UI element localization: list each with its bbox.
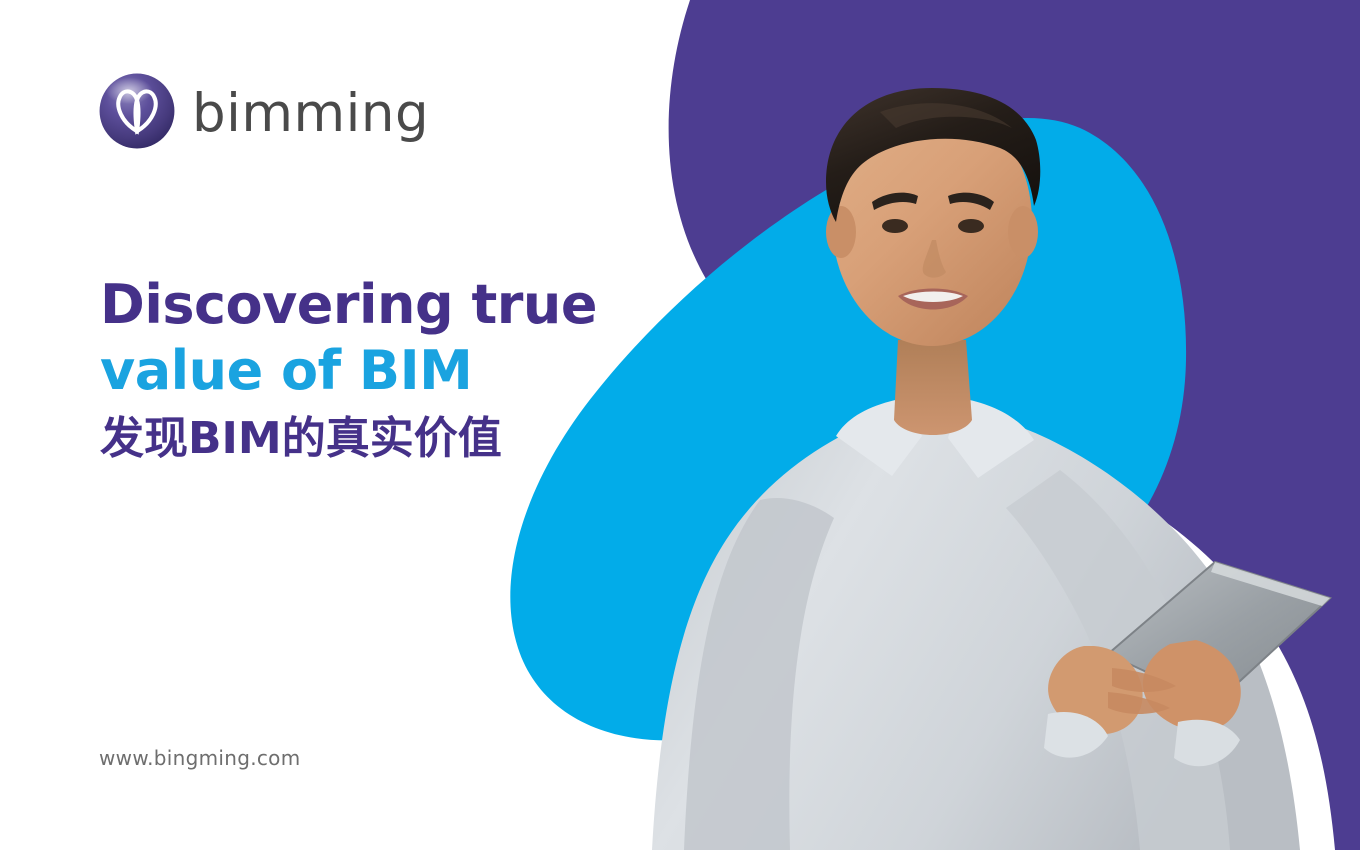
- headline-line-secondary: value of BIM: [100, 338, 620, 404]
- headline-line-primary: Discovering true: [100, 272, 620, 338]
- site-url-text[interactable]: www.bingming.com: [99, 748, 301, 768]
- headline-line-chinese: 发现BIM的真实价值: [100, 408, 620, 470]
- bimming-loop-sphere-icon: [98, 72, 176, 150]
- marketing-banner: bimming Discovering true value of BIM 发现…: [0, 0, 1360, 850]
- headline-block: Discovering true value of BIM 发现BIM的真实价值: [100, 272, 620, 470]
- brand-wordmark: bimming: [192, 87, 429, 140]
- brand-logo[interactable]: bimming: [98, 72, 429, 150]
